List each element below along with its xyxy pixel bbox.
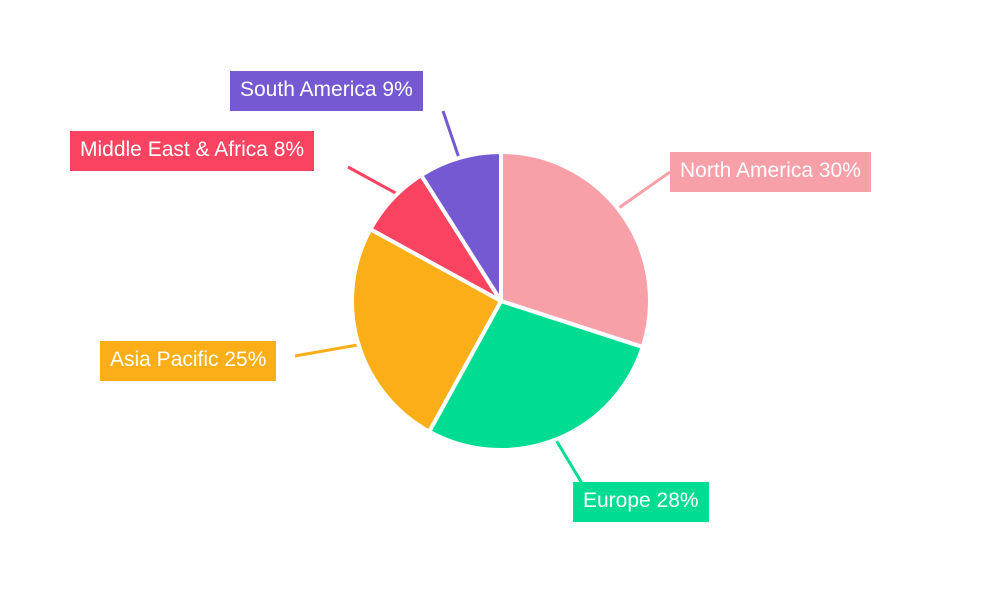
- leader-line: [443, 111, 459, 158]
- pie-chart-canvas: [0, 0, 1000, 600]
- pie-label-asia-pacific: Asia Pacific 25%: [100, 341, 276, 381]
- pie-chart-figure: North America 30%Europe 28%Asia Pacific …: [0, 0, 1000, 600]
- pie-label-middle-east-africa: Middle East & Africa 8%: [70, 131, 314, 171]
- pie-label-europe: Europe 28%: [573, 482, 709, 522]
- leader-line: [348, 167, 401, 196]
- pie-label-north-america: North America 30%: [670, 152, 871, 192]
- leader-line: [613, 172, 670, 212]
- pie-slices-group: [352, 152, 650, 450]
- leader-line: [295, 344, 363, 356]
- pie-label-south-america: South America 9%: [230, 71, 423, 111]
